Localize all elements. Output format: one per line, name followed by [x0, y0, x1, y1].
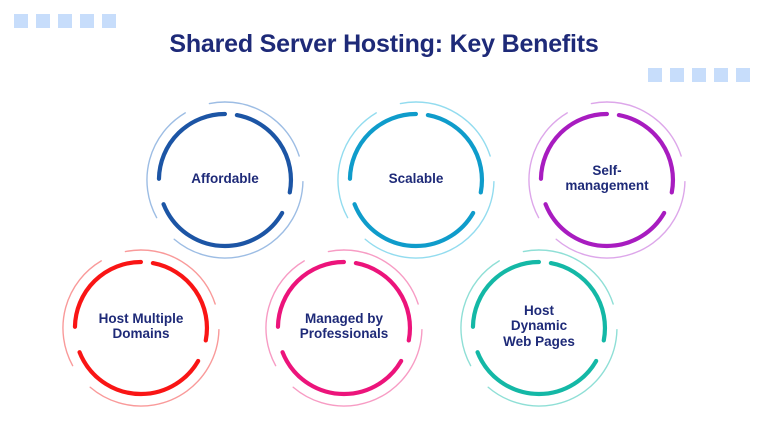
decorative-square-icon	[670, 68, 684, 82]
slide-canvas: Shared Server Hosting: Key Benefits Affo…	[0, 0, 768, 427]
inner-arc-icon	[541, 114, 673, 246]
ring-graphic	[57, 244, 225, 409]
decorative-dots-top-left	[14, 14, 116, 28]
inner-arc-icon	[473, 262, 605, 394]
inner-arc-icon	[278, 262, 410, 394]
ring-graphic	[523, 96, 691, 261]
outer-arc-icon	[461, 250, 617, 406]
decorative-square-icon	[648, 68, 662, 82]
ring-graphic	[332, 96, 500, 261]
benefit-item-host-dynamic-web-pages[interactable]: Host Dynamic Web Pages	[455, 244, 623, 409]
outer-arc-icon	[147, 102, 303, 258]
inner-arc-icon	[75, 262, 207, 394]
decorative-square-icon	[692, 68, 706, 82]
benefits-grid: Affordable Scalable Self- management H	[0, 96, 768, 426]
benefit-item-self-management[interactable]: Self- management	[523, 96, 691, 261]
outer-arc-icon	[266, 250, 422, 406]
inner-arc-icon	[159, 114, 291, 246]
decorative-dots-top-right	[648, 68, 750, 82]
ring-graphic	[141, 96, 309, 261]
benefit-item-managed-by-professionals[interactable]: Managed by Professionals	[260, 244, 428, 409]
outer-arc-icon	[529, 102, 685, 258]
decorative-square-icon	[714, 68, 728, 82]
benefit-item-scalable[interactable]: Scalable	[332, 96, 500, 261]
ring-graphic	[260, 244, 428, 409]
outer-arc-icon	[63, 250, 219, 406]
decorative-square-icon	[102, 14, 116, 28]
inner-arc-icon	[350, 114, 482, 246]
ring-graphic	[455, 244, 623, 409]
decorative-square-icon	[14, 14, 28, 28]
decorative-square-icon	[736, 68, 750, 82]
decorative-square-icon	[58, 14, 72, 28]
page-title: Shared Server Hosting: Key Benefits	[0, 30, 768, 59]
outer-arc-icon	[338, 102, 494, 258]
decorative-square-icon	[36, 14, 50, 28]
benefit-item-host-multiple-domains[interactable]: Host Multiple Domains	[57, 244, 225, 409]
decorative-square-icon	[80, 14, 94, 28]
benefit-item-affordable[interactable]: Affordable	[141, 96, 309, 261]
